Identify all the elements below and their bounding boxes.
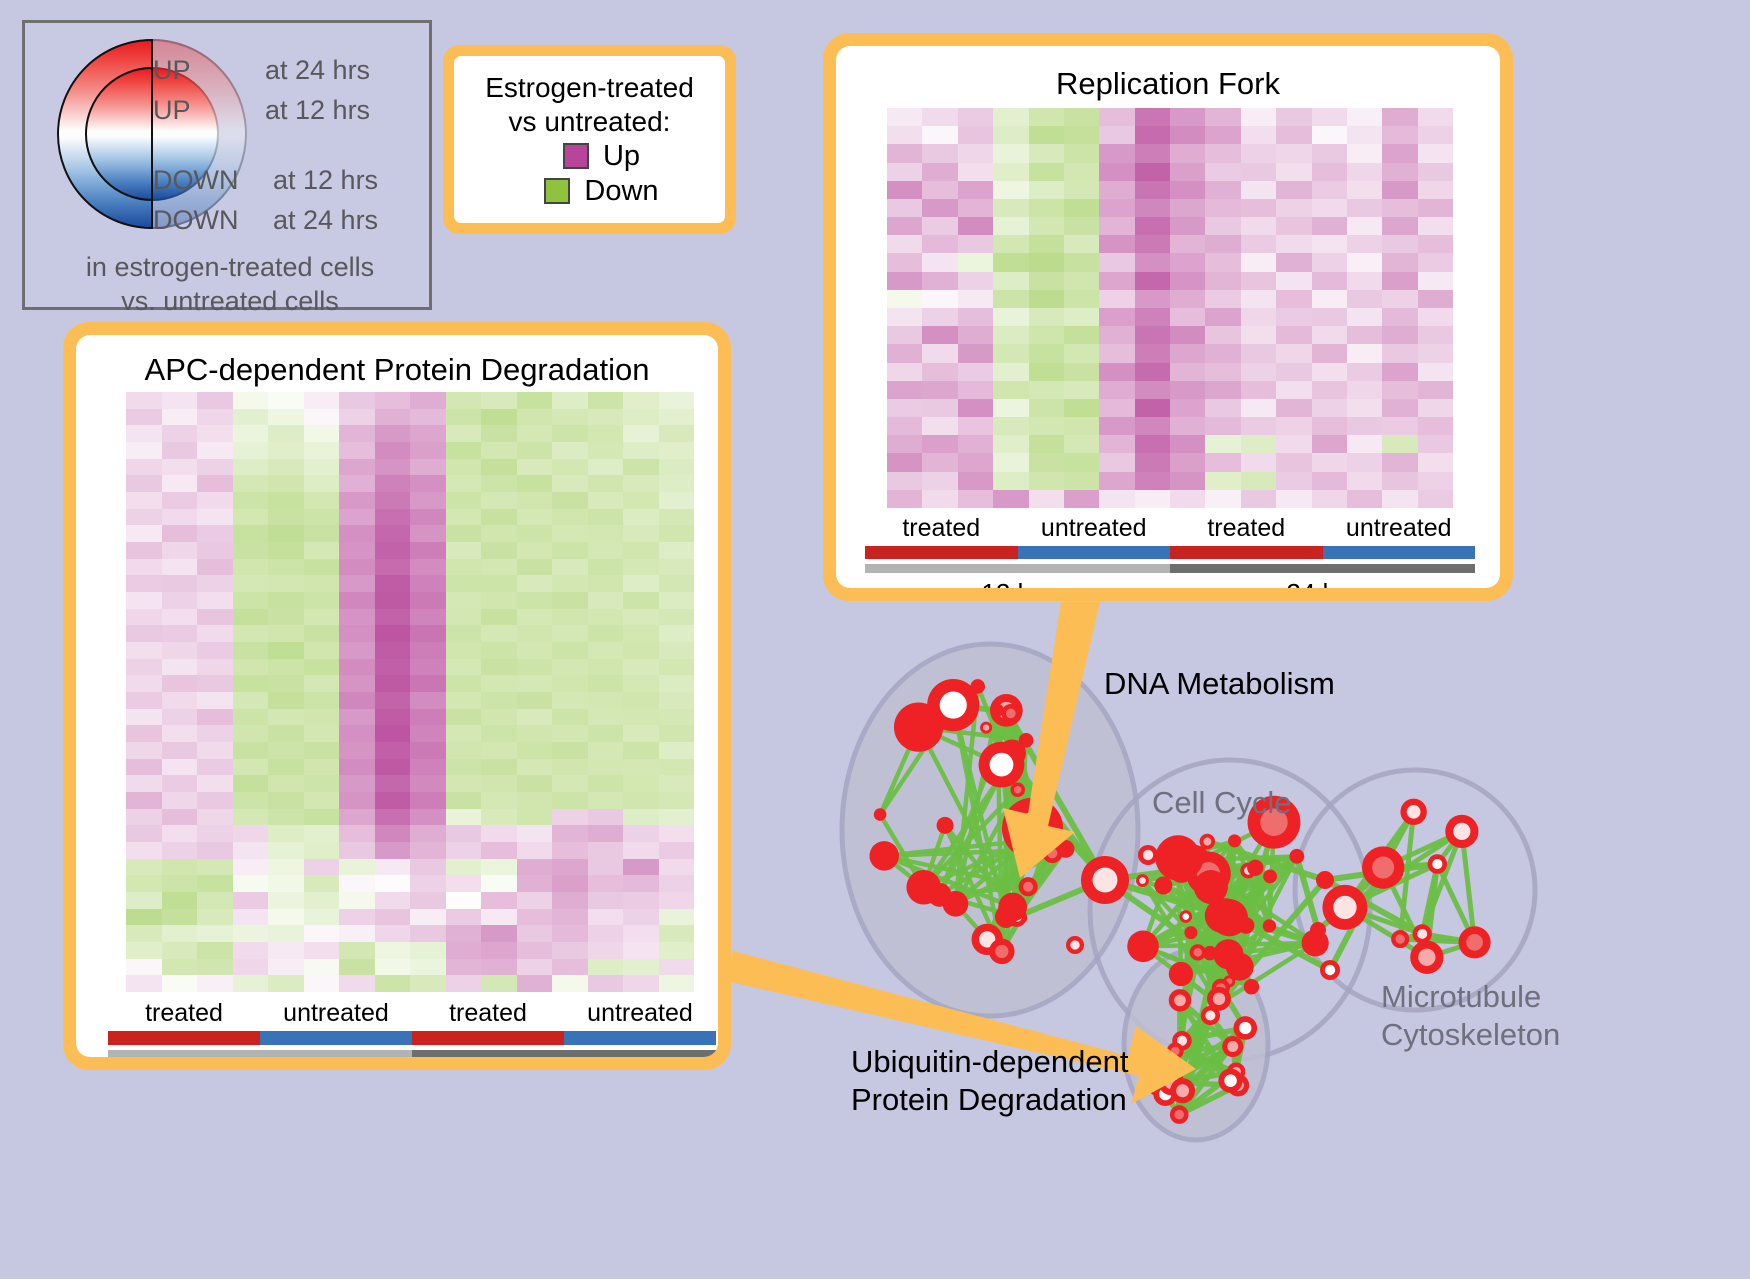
network-node [1020, 818, 1048, 846]
time-bar-segment-0 [108, 1050, 412, 1057]
cluster-label-microtubule: Microtubule Cytoskeleton [1381, 978, 1560, 1054]
network-node [1218, 1069, 1242, 1093]
key-label-down: Down [584, 175, 658, 208]
network-node [971, 679, 985, 693]
network-node-core [1023, 882, 1033, 892]
network-node-core [1070, 940, 1079, 949]
network-node-core [1395, 934, 1404, 943]
network-node [1155, 835, 1200, 880]
network-node-core [1174, 1110, 1184, 1120]
key-row-down: Down [520, 175, 658, 208]
network-node [998, 739, 1026, 767]
network-node-core [1205, 1011, 1215, 1021]
network-node [1205, 898, 1240, 933]
network-node [1201, 1006, 1220, 1025]
figure-canvas: UP at 24 hrs UP at 12 hrs DOWN at 12 hrs… [0, 0, 1750, 1279]
panel-replication-fork: Replication Fork treated untreated treat… [823, 33, 1513, 601]
group-bar-segment-3 [564, 1031, 716, 1045]
replication-group-label-2: treated [1170, 514, 1323, 543]
network-node-core [1011, 912, 1021, 922]
time-bar-segment-1 [412, 1050, 716, 1057]
apc-group-label-2: treated [412, 999, 564, 1028]
apc-treatment-bar [108, 1031, 716, 1045]
network-node [1238, 917, 1255, 934]
network-node [1263, 870, 1277, 884]
panel-replication-inner: Replication Fork treated untreated treat… [836, 46, 1500, 588]
network-node [1203, 946, 1217, 960]
network-node [1217, 909, 1237, 929]
apc-group-labels: treated untreated treated untreated [108, 999, 716, 1028]
network-node [1158, 1069, 1184, 1095]
network-node-core [1026, 825, 1041, 840]
network-node-core [983, 724, 989, 730]
network-node [1207, 987, 1231, 1011]
group-bar-segment-0 [108, 1031, 260, 1045]
network-node [1001, 704, 1020, 723]
network-node-core [1227, 1041, 1238, 1052]
network-node [1200, 834, 1216, 850]
network-node-core [1226, 978, 1232, 984]
network-node [1166, 849, 1184, 867]
network-node [1212, 979, 1230, 997]
network-node [1138, 845, 1158, 865]
legend-time-down-12: at 12 hrs [273, 165, 378, 196]
network-node [1186, 852, 1230, 896]
network-node-core [1239, 1022, 1251, 1034]
swatch-down-icon [544, 178, 570, 204]
network-node-core [1325, 965, 1335, 975]
heatmap-replication-fork [887, 108, 1453, 508]
network-node [1247, 860, 1263, 876]
network-node [1400, 799, 1426, 825]
network-node [1019, 877, 1038, 896]
replication-group-label-1: untreated [1018, 514, 1171, 543]
legend-time-up-12: at 12 hrs [265, 95, 370, 126]
network-node-core [1244, 867, 1252, 875]
network-node-core [1215, 1001, 1222, 1008]
network-node-core [1453, 823, 1470, 840]
network-node [1007, 907, 1027, 927]
network-node [1148, 1074, 1171, 1097]
panel-apc-inner: APC-dependent Protein Degradation treate… [76, 335, 718, 1057]
cluster-dna-metabolism [842, 644, 1138, 1016]
apc-group-label-1: untreated [260, 999, 412, 1028]
network-node [1081, 856, 1129, 904]
network-node [1169, 989, 1191, 1011]
network-node-core [1231, 1067, 1241, 1077]
network-node [995, 906, 1017, 928]
arrow-replication-to-dna [1003, 602, 1100, 878]
replication-time-bar [865, 564, 1475, 573]
network-node [1184, 926, 1197, 939]
network-node [1213, 939, 1243, 969]
network-node-core [1221, 914, 1231, 924]
replication-time-label-12: 12 hrs [865, 578, 1170, 588]
apc-group-label-3: untreated [564, 999, 716, 1028]
cluster-label-ubiquitin: Ubiquitin-dependent Protein Degradation [851, 1043, 1129, 1119]
network-node-core [1018, 915, 1024, 921]
network-node-core [1213, 993, 1225, 1005]
replication-group-label-0: treated [865, 514, 1018, 543]
network-node [1127, 930, 1159, 962]
network-node [1169, 843, 1203, 877]
network-node [1154, 877, 1172, 895]
network-node [869, 841, 898, 870]
network-node-core [940, 692, 967, 719]
network-node [1428, 854, 1448, 874]
time-bar-segment-0 [865, 564, 1170, 573]
network-node [1362, 846, 1404, 888]
legend-footer-line1: in estrogen-treated cells [25, 251, 435, 285]
network-node-core [1197, 862, 1220, 885]
estrogen-key-inner: Estrogen-treated vs untreated: Up Down [454, 56, 725, 223]
network-node [1167, 1043, 1184, 1060]
network-node [1170, 1105, 1189, 1124]
network-node-core [1093, 868, 1118, 893]
network-node-core [1047, 848, 1057, 858]
network-node-core [1224, 1074, 1237, 1087]
group-bar-segment-2 [412, 1031, 564, 1045]
network-node [1194, 870, 1228, 904]
estrogen-key-title-line1: Estrogen-treated [485, 71, 694, 104]
key-row-up: Up [539, 140, 640, 173]
network-node [979, 742, 1025, 788]
group-bar-segment-3 [1323, 546, 1476, 559]
network-node [1010, 782, 1025, 797]
network-node [980, 722, 992, 734]
legend-term-down-12: DOWN [153, 165, 238, 196]
legend-term-up-12: UP [153, 95, 191, 126]
legend-term-up-24: UP [153, 55, 191, 86]
network-node-core [995, 945, 1008, 958]
panel-apc-title: APC-dependent Protein Degradation [76, 352, 718, 388]
panel-replication-title: Replication Fork [836, 66, 1500, 102]
network-node [1014, 826, 1043, 855]
replication-treatment-bar [865, 546, 1475, 559]
network-node [1391, 930, 1409, 948]
network-node [989, 939, 1014, 964]
network-node-core [1170, 853, 1180, 863]
network-node [874, 808, 887, 821]
legend-time-down-24: at 24 hrs [273, 205, 378, 236]
network-node-core [1232, 1079, 1244, 1091]
network-node [943, 891, 969, 917]
network-node-core [979, 931, 995, 947]
network-node-core [998, 702, 1015, 719]
network-node [1240, 863, 1256, 879]
network-node [1228, 834, 1241, 847]
apc-time-bar [108, 1050, 716, 1057]
network-node [1136, 874, 1149, 887]
network-node [1222, 1036, 1243, 1057]
heatmap-apc-degradation [126, 392, 694, 992]
network-node-core [1143, 850, 1153, 860]
network-node-core [1418, 949, 1435, 966]
network-node [1066, 936, 1084, 954]
group-bar-segment-1 [260, 1031, 412, 1045]
network-node-core [1194, 948, 1202, 956]
network-node-core [1182, 913, 1189, 920]
estrogen-key-box: Estrogen-treated vs untreated: Up Down [443, 45, 736, 234]
network-node-core [1432, 859, 1442, 869]
network-node [1244, 979, 1259, 994]
color-wheel-legend: UP at 24 hrs UP at 12 hrs DOWN at 12 hrs… [22, 20, 432, 310]
network-node-core [1006, 709, 1016, 719]
network-node-core [1139, 877, 1146, 884]
legend-time-up-24: at 24 hrs [265, 55, 370, 86]
network-node [906, 870, 941, 905]
network-node [1226, 953, 1254, 981]
network-node [1170, 1078, 1195, 1103]
network-node [1178, 845, 1211, 878]
network-node-core [990, 753, 1014, 777]
network-node [1042, 843, 1062, 863]
network-node-core [1372, 857, 1394, 879]
network-node [1153, 1082, 1177, 1106]
network-node-core [1417, 929, 1427, 939]
estrogen-key-title: Estrogen-treated vs untreated: [485, 71, 694, 137]
network-node [927, 883, 951, 907]
network-node [1302, 929, 1329, 956]
network-node [972, 924, 1003, 955]
network-node-core [1176, 1084, 1189, 1097]
network-node [1233, 1016, 1257, 1040]
network-node-core [1203, 838, 1211, 846]
replication-time-labels: 12 hrs 24 hrs [865, 578, 1475, 588]
network-node [990, 694, 1023, 727]
network-node [1190, 944, 1206, 960]
network-node [1223, 975, 1235, 987]
panel-apc-degradation: APC-dependent Protein Degradation treate… [63, 322, 731, 1070]
legend-footer: in estrogen-treated cells vs. untreated … [25, 251, 435, 319]
network-node-core [1466, 934, 1483, 951]
network-node-core [1171, 1047, 1180, 1056]
network-node [1445, 815, 1478, 848]
cluster-microtubule [1295, 770, 1535, 1010]
replication-group-labels: treated untreated treated untreated [865, 514, 1475, 543]
network-node [1289, 849, 1304, 864]
network-node-core [1165, 1076, 1178, 1089]
replication-group-label-3: untreated [1323, 514, 1476, 543]
network-node [937, 817, 954, 834]
network-node [1322, 885, 1367, 930]
network-node [1168, 857, 1194, 883]
network-node [1179, 910, 1192, 923]
network-node-core [1177, 1036, 1187, 1046]
cluster-label-cell-cycle: Cell Cycle [1152, 785, 1292, 821]
network-node [1316, 871, 1334, 889]
network-node [1212, 998, 1225, 1011]
network-node [1211, 899, 1248, 936]
network-node [998, 893, 1027, 922]
network-node [1213, 898, 1238, 923]
network-node-core [1014, 786, 1022, 794]
network-node [1015, 912, 1027, 924]
network-node [1057, 840, 1075, 858]
network-node-core [1174, 994, 1186, 1006]
network-node [1310, 922, 1326, 938]
network-node [927, 679, 979, 731]
legend-footer-line2: vs. untreated cells [25, 285, 435, 319]
cluster-ubiquitin [1124, 950, 1268, 1140]
network-node-core [1017, 812, 1049, 844]
network-node [1227, 1074, 1249, 1096]
network-node [1320, 960, 1340, 980]
network-node [1263, 919, 1276, 932]
cluster-label-dna-metabolism: DNA Metabolism [1104, 666, 1335, 702]
network-node [1019, 733, 1034, 748]
network-node-core [1159, 1088, 1171, 1100]
network-node [1002, 798, 1063, 859]
network-node [1459, 926, 1491, 958]
network-node-core [1216, 983, 1225, 992]
network-node [1037, 842, 1053, 858]
network-node [1227, 1062, 1245, 1080]
replication-time-label-24: 24 hrs [1170, 578, 1475, 588]
swatch-up-icon [563, 143, 589, 169]
group-bar-segment-0 [865, 546, 1018, 559]
network-node-core [1153, 1079, 1165, 1091]
network-node [991, 704, 1004, 717]
apc-group-label-0: treated [108, 999, 260, 1028]
legend-term-down-24: DOWN [153, 205, 238, 236]
network-node-core [1022, 833, 1037, 848]
estrogen-key-title-line2: vs untreated: [485, 105, 694, 138]
group-bar-segment-2 [1170, 546, 1323, 559]
network-node-core [1407, 805, 1421, 819]
network-node [1169, 962, 1193, 986]
network-node-core [1185, 853, 1202, 870]
network-node [1413, 924, 1432, 943]
network-node [1172, 1031, 1191, 1050]
key-label-up: Up [603, 140, 640, 173]
network-node [1410, 941, 1443, 974]
group-bar-segment-1 [1018, 546, 1171, 559]
network-node-core [1333, 896, 1356, 919]
network-node [894, 702, 943, 751]
time-bar-segment-1 [1170, 564, 1475, 573]
